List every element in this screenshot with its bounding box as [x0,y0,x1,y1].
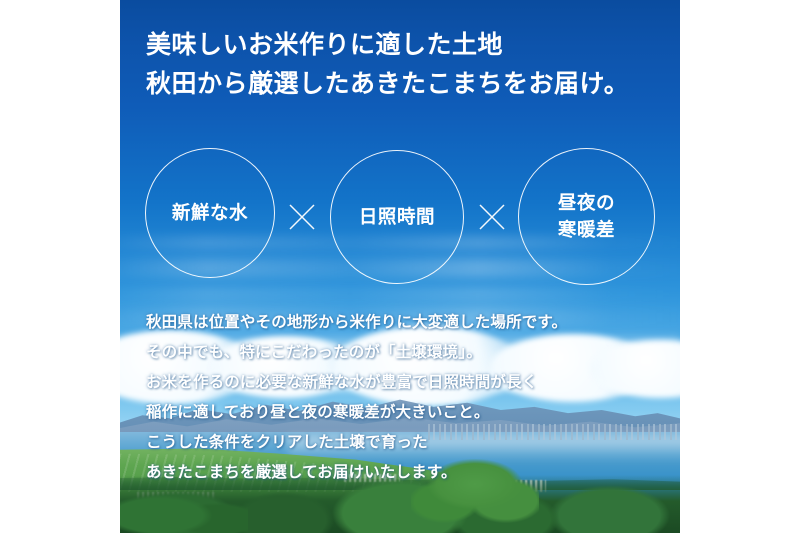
headline: 美味しいお米作りに適した土地 秋田から厳選したあきたこまちをお届け。 [120,26,680,104]
feature-circle-temperature-difference: 昼夜の 寒暖差 [518,148,655,285]
feature-circle-fresh-water: 新鮮な水 [145,148,275,278]
feature-label-line-1: 昼夜の [558,192,615,213]
feature-label: 新鮮な水 [172,201,248,225]
feature-circles-row: 新鮮な水 日照時間 昼夜の 寒暖差 [120,148,680,288]
body-line-1: 秋田県は位置やその地形から米作りに大変適した場所です。 [146,308,567,338]
cirrus-cloud-streak [120,286,680,302]
body-line-3: お米を作るのに必要な新鮮な水が豊富で日照時間が長く [146,368,567,398]
feature-label: 日照時間 [359,205,435,229]
feature-circle-sunshine-hours: 日照時間 [330,150,464,284]
screenshot-root: 美味しいお米作りに適した土地 秋田から厳選したあきたこまちをお届け。 新鮮な水 … [0,0,800,533]
body-copy: 秋田県は位置やその地形から米作りに大変適した場所です。 その中でも、特にこだわっ… [146,308,567,488]
body-line-5: こうした条件をクリアした土壌で育った [146,428,567,458]
headline-line-2: 秋田から厳選したあきたこまちをお届け。 [146,65,680,104]
multiply-symbol-icon [477,202,507,232]
body-line-4: 稲作に適しており昼と夜の寒暖差が大きいこと。 [146,398,567,428]
multiply-symbol-icon [287,202,317,232]
akitakomachi-promo-banner: 美味しいお米作りに適した土地 秋田から厳選したあきたこまちをお届け。 新鮮な水 … [120,0,680,533]
feature-label: 昼夜の 寒暖差 [558,190,615,244]
feature-label-line-2: 寒暖差 [558,219,615,240]
body-line-6: あきたこまちを厳選してお届けいたします。 [146,458,567,488]
body-line-2: その中でも、特にこだわったのが「土壌環境」。 [146,338,567,368]
headline-line-1: 美味しいお米作りに適した土地 [146,26,680,65]
foreground-bush [120,489,248,533]
